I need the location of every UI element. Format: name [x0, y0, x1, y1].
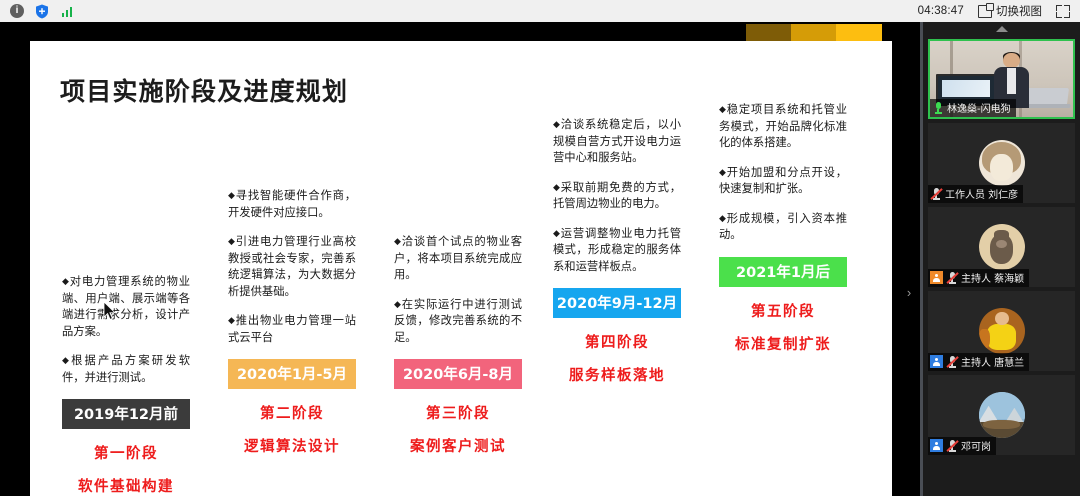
column-4-paragraph-2: ◆采取前期免费的方式，托管周边物业的电力。	[553, 180, 681, 213]
participant-nameplate: 主持人 蔡海颖	[928, 269, 1029, 287]
participant-nameplate: 邓可岗	[928, 437, 996, 455]
column-2-date-badge: 2020年1月-5月	[228, 359, 356, 389]
host-badge-icon	[930, 439, 943, 452]
timeline-column-5: ◆稳定项目系统和托管业务模式，开始品牌化标准化的体系搭建。 ◆开始加盟和分点开设…	[719, 102, 847, 354]
column-5-paragraph-3: ◆形成规模，引入资本推动。	[719, 211, 847, 244]
meeting-window: i 04:38:47 切换视图	[0, 0, 1080, 496]
info-icon[interactable]: i	[9, 3, 25, 19]
column-2-paragraph-3: ◆推出物业电力管理一站式云平台	[228, 313, 356, 346]
timeline-column-3: ◆洽谈首个试点的物业客户，将本项目系统完成应用。 ◆在实际运行中进行测试反馈，修…	[394, 234, 522, 456]
column-3-paragraph-2: ◆在实际运行中进行测试反馈，修改完善系统的不足。	[394, 297, 522, 347]
column-5-paragraph-2: ◆开始加盟和分点开设，快速复制和扩张。	[719, 165, 847, 198]
column-1-stage-sub: 软件基础构建	[62, 475, 190, 496]
timeline-columns: ◆对电力管理系统的物业端、用户端、展示端等各端进行需求分析，设计产品方案。 ◆根…	[30, 24, 892, 496]
microphone-on-icon	[932, 101, 944, 114]
shield-icon[interactable]	[34, 3, 50, 19]
toolbar-left-icons: i	[0, 3, 75, 19]
switch-view-icon	[978, 5, 992, 18]
participant-tile[interactable]: 主持人 唐慧兰	[928, 291, 1075, 371]
participant-tile[interactable]: 工作人员 刘仁彦	[928, 123, 1075, 203]
microphone-muted-icon	[930, 187, 942, 200]
participant-tile[interactable]: 主持人 蔡海颖	[928, 207, 1075, 287]
column-5-stage-name: 第五阶段	[719, 300, 847, 321]
presentation-slide[interactable]: 项目实施阶段及进度规划 ◆对电力管理系统的物业端、用户端、展示端等各端进行需求分…	[30, 24, 892, 496]
signal-icon[interactable]	[59, 3, 75, 19]
column-1-date-badge: 2019年12月前	[62, 399, 190, 429]
participant-tile[interactable]: 邓可岗	[928, 375, 1075, 455]
column-4-paragraph-3: ◆运营调整物业电力托管模式，形成稳定的服务体系和运营样板点。	[553, 226, 681, 276]
collapse-sidebar-chevron-icon[interactable]: ›	[902, 277, 916, 307]
microphone-muted-icon	[946, 271, 958, 284]
shared-screen-stage: 项目实施阶段及进度规划 ◆对电力管理系统的物业端、用户端、展示端等各端进行需求分…	[0, 22, 920, 496]
meeting-clock: 04:38:47	[918, 5, 964, 17]
switch-view-label: 切换视图	[996, 3, 1042, 19]
microphone-muted-icon	[946, 355, 958, 368]
column-1-paragraph-1: ◆对电力管理系统的物业端、用户端、展示端等各端进行需求分析，设计产品方案。	[62, 274, 190, 340]
column-2-paragraph-1: ◆寻找智能硬件合作商，开发硬件对应接口。	[228, 188, 356, 221]
timeline-column-4: ◆洽谈系统稳定后，以小规模自营方式开设电力运营中心和服务站。 ◆采取前期免费的方…	[553, 117, 681, 385]
participant-tile[interactable]: 林逸燊-闪电狗	[928, 39, 1075, 119]
timeline-column-2: ◆寻找智能硬件合作商，开发硬件对应接口。 ◆引进电力管理行业高校教授或社会专家，…	[228, 188, 356, 456]
host-badge-icon	[930, 271, 943, 284]
column-4-stage-name: 第四阶段	[553, 331, 681, 352]
participant-name: 林逸燊-闪电狗	[947, 100, 1011, 115]
participant-nameplate: 工作人员 刘仁彦	[928, 185, 1023, 203]
column-4-stage-sub: 服务样板落地	[553, 364, 681, 385]
column-3-stage-sub: 案例客户测试	[394, 435, 522, 456]
participant-nameplate: 林逸燊-闪电狗	[930, 99, 1016, 117]
switch-view-button[interactable]: 切换视图	[978, 3, 1042, 19]
column-5-date-badge: 2021年1月后	[719, 257, 847, 287]
column-2-stage-name: 第二阶段	[228, 402, 356, 423]
column-2-stage-sub: 逻辑算法设计	[228, 435, 356, 456]
scroll-up-arrow-icon[interactable]	[923, 22, 1080, 36]
participant-name: 邓可岗	[961, 438, 991, 453]
microphone-muted-icon	[946, 439, 958, 452]
column-3-stage-name: 第三阶段	[394, 402, 522, 423]
column-4-date-badge: 2020年9月-12月	[553, 288, 681, 318]
column-5-paragraph-1: ◆稳定项目系统和托管业务模式，开始品牌化标准化的体系搭建。	[719, 102, 847, 152]
participant-name: 工作人员 刘仁彦	[945, 186, 1018, 201]
timeline-column-1: ◆对电力管理系统的物业端、用户端、展示端等各端进行需求分析，设计产品方案。 ◆根…	[62, 274, 190, 496]
host-badge-icon	[930, 355, 943, 368]
column-3-paragraph-1: ◆洽谈首个试点的物业客户，将本项目系统完成应用。	[394, 234, 522, 284]
column-2-paragraph-2: ◆引进电力管理行业高校教授或社会专家，完善系统逻辑算法，为大数据分析提供基础。	[228, 234, 356, 300]
column-4-paragraph-1: ◆洽谈系统稳定后，以小规模自营方式开设电力运营中心和服务站。	[553, 117, 681, 167]
participant-sidebar: 林逸燊-闪电狗 工作人员 刘仁彦	[920, 22, 1080, 496]
column-1-stage-name: 第一阶段	[62, 442, 190, 463]
participant-nameplate: 主持人 唐慧兰	[928, 353, 1029, 371]
fullscreen-icon[interactable]	[1056, 5, 1070, 18]
participant-name: 主持人 蔡海颖	[961, 270, 1024, 285]
column-1-paragraph-2: ◆根据产品方案研发软件，并进行测试。	[62, 353, 190, 386]
column-5-stage-sub: 标准复制扩张	[719, 333, 847, 354]
toolbar-right-controls: 04:38:47 切换视图	[918, 3, 1080, 19]
participant-name: 主持人 唐慧兰	[961, 354, 1024, 369]
column-3-date-badge: 2020年6月-8月	[394, 359, 522, 389]
top-toolbar: i 04:38:47 切换视图	[0, 0, 1080, 23]
